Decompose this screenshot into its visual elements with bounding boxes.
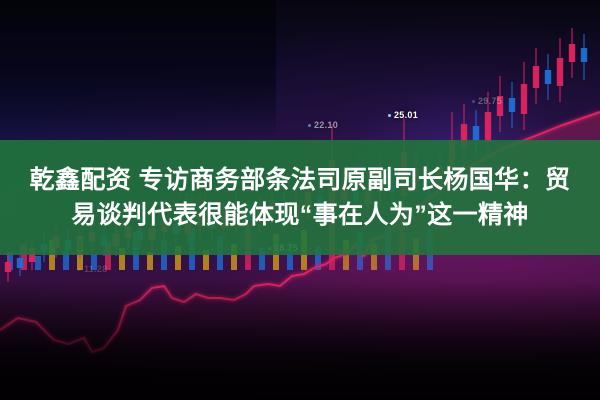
price-label: 11.28 <box>78 264 108 274</box>
price-label-text: 25.01 <box>394 110 418 120</box>
price-marker-dot <box>308 124 311 127</box>
candle-body <box>569 44 575 62</box>
headline-band: 乾鑫配资 专访商务部条法司原副司长杨国华：贸 易谈判代表很能体现“事在人为”这一… <box>0 140 600 255</box>
candle-body <box>557 58 563 86</box>
price-label-text: 29.75 <box>478 96 502 106</box>
candle-body <box>5 262 11 272</box>
candle-body <box>509 98 515 112</box>
price-marker-dot <box>388 114 391 117</box>
price-label-text: 11.28 <box>84 264 108 274</box>
headline-line-1: 乾鑫配资 专访商务部条法司原副司长杨国华：贸 <box>30 164 571 197</box>
candle-body <box>545 70 551 84</box>
candle-body <box>485 112 491 142</box>
candle-body <box>521 84 527 114</box>
volume-bar <box>35 256 41 270</box>
bottom-vignette <box>0 280 600 400</box>
price-label: 22.10 <box>308 120 338 130</box>
price-label: 29.75 <box>472 96 502 106</box>
candle-body <box>473 126 479 140</box>
price-label-text: 22.10 <box>314 120 338 130</box>
candle-body <box>533 66 539 88</box>
candle-body <box>581 48 587 62</box>
headline-line-2: 易谈判代表很能体现“事在人为”这一精神 <box>71 199 529 232</box>
price-marker-dot <box>78 268 81 271</box>
candle-body <box>17 258 23 268</box>
price-marker-dot <box>472 100 475 103</box>
price-label: 25.01 <box>388 110 418 120</box>
promo-banner: 22.1025.0129.7510.0718.7511.28 乾鑫配资 专访商务… <box>0 0 600 400</box>
